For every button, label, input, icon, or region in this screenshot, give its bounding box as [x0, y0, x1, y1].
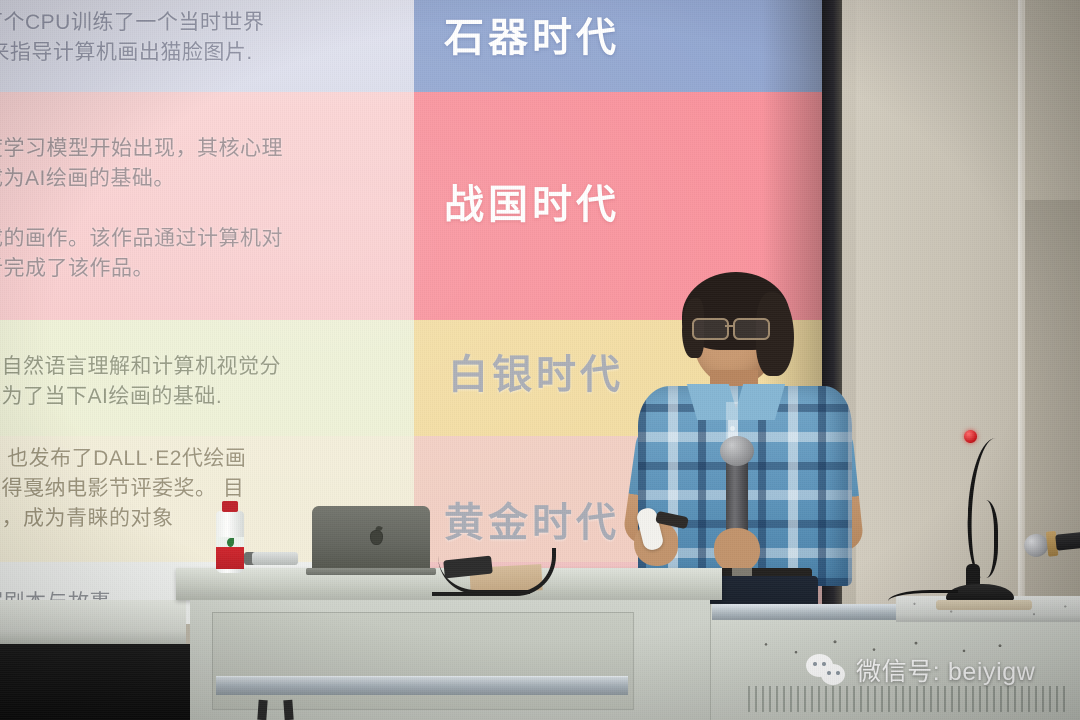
usb-adapter [252, 552, 298, 565]
wechat-watermark: 微信号: beiyigw [806, 652, 1035, 688]
bottle-cap [222, 501, 238, 512]
spare-handheld-microphone [1023, 527, 1080, 559]
side-table [0, 600, 186, 644]
wechat-dot [822, 662, 826, 666]
wechat-bubble-small [821, 664, 845, 685]
slide-era-golden-age: 黄金时代 [444, 490, 620, 548]
cabinet-vents [748, 686, 1068, 712]
spare-mic-body [1055, 532, 1080, 551]
laptop-base [306, 568, 436, 575]
podium-drawer[interactable] [212, 612, 634, 710]
glasses-lens-left [692, 318, 729, 340]
glasses-bridge [725, 325, 733, 327]
slide-era-warring-states: 战国时代 [444, 172, 620, 230]
wechat-dot [827, 671, 831, 675]
podium-leg [283, 700, 293, 720]
bottle-label [216, 547, 244, 569]
shirt-button [730, 426, 735, 431]
macbook-laptop[interactable] [306, 506, 434, 574]
glasses-lens-right [733, 318, 770, 340]
slide-text-deep-learning: 度学习模型开始出现，其核心理 成为AI绘画的基础。 [0, 134, 283, 194]
apple-logo-icon [370, 530, 383, 545]
water-bottle [216, 501, 244, 573]
lecture-photo-scene: 万个CPU训练了一个当时世界 来指导计算机画出猫脸图片. 度学习模型开始出现，其… [0, 0, 1080, 720]
floor [0, 644, 190, 720]
slide-text-nlp-cv: 行自然语言理解和计算机视觉分 成为了当下AI绘画的基础. [0, 352, 281, 412]
wechat-watermark-text: 微信号: beiyigw [856, 652, 1035, 688]
drawer-rail [216, 676, 628, 695]
handheld-microphone-head [720, 436, 754, 466]
wall-shadow [1025, 200, 1080, 500]
laptop-lid [312, 506, 430, 570]
slide-text-stone-age: 万个CPU训练了一个当时世界 来指导计算机画出猫脸图片. [0, 8, 264, 68]
gooseneck-cable [888, 590, 958, 609]
bottle-leaf-icon [227, 538, 234, 547]
gooseneck-microphone [940, 428, 1030, 608]
podium-leg [257, 700, 267, 720]
presenter-hand-right [714, 528, 760, 572]
slide-text-artwork: 成的画作。该作品通过计算机对 析完成了该作品。 [0, 224, 283, 284]
wechat-dot [813, 662, 817, 666]
glasses-icon [692, 318, 782, 336]
wechat-logo-icon [806, 654, 846, 686]
microphone-led-indicator [964, 430, 977, 443]
wechat-dot [836, 671, 840, 675]
slide-era-stone-age: 石器时代 [444, 5, 620, 63]
slide-band-warring-left [0, 92, 414, 320]
slide-era-silver-age: 白银时代 [448, 342, 624, 400]
slide-text-dalle2: AI 也发布了DALL·E2代绘画 获得戛纳电影节评委奖。 目 型，成为青睐的对… [0, 444, 246, 533]
